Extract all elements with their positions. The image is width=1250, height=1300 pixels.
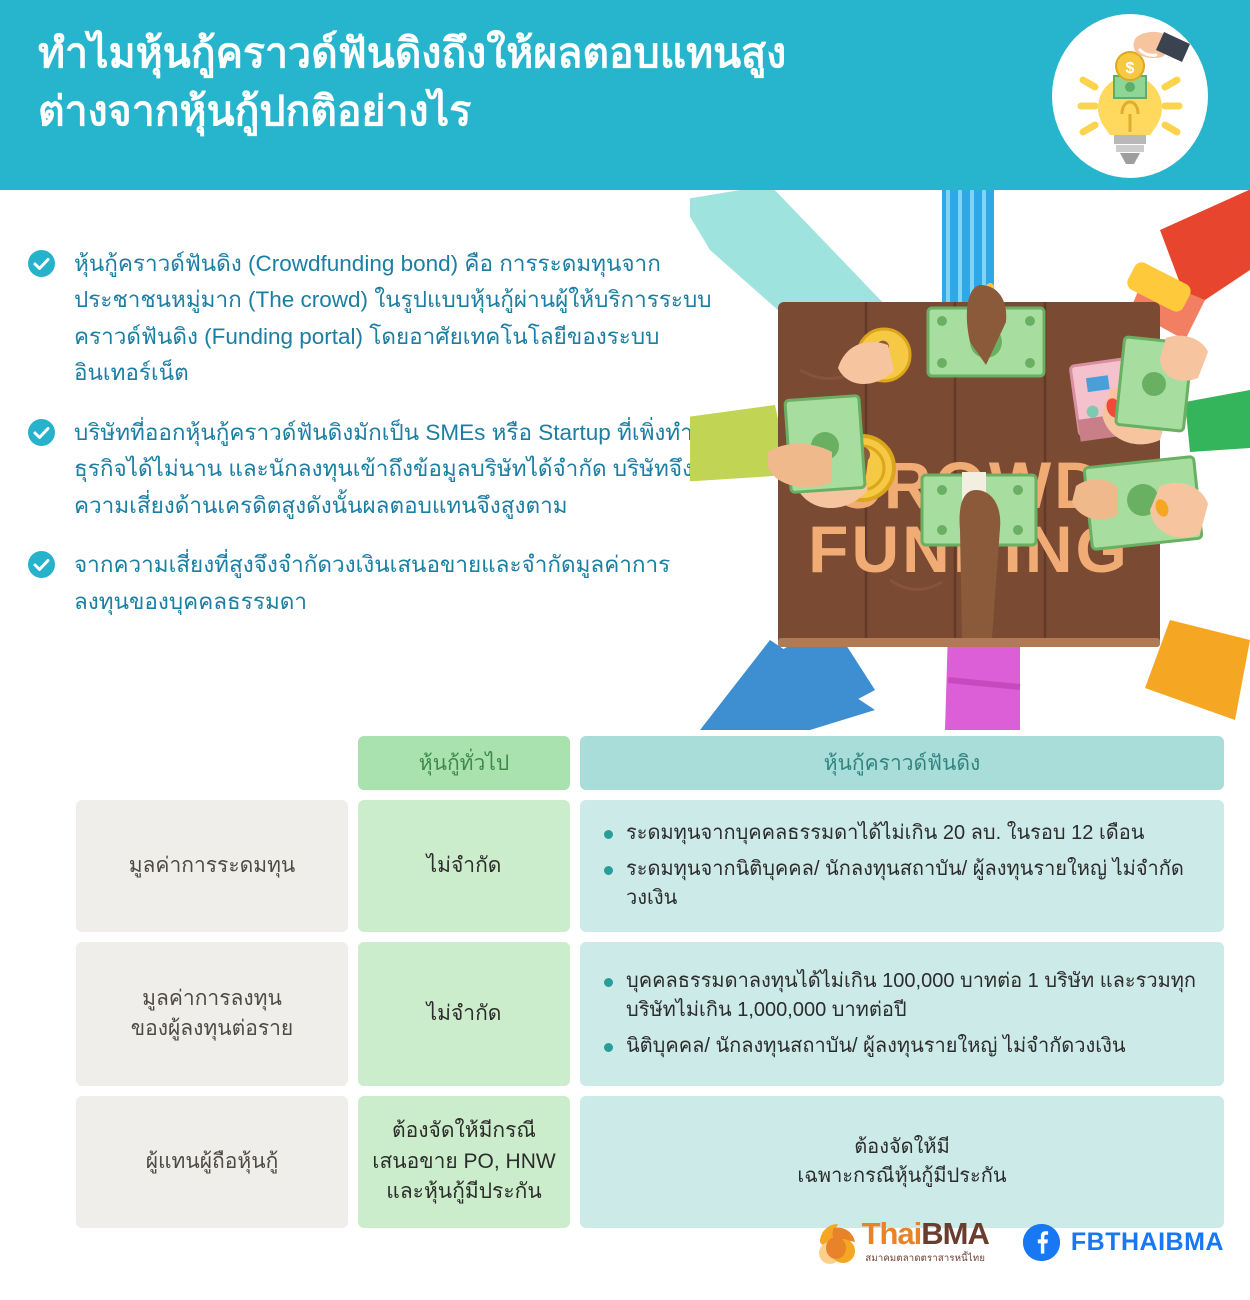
- list-item: บุคคลธรรมดาลงทุนได้ไม่เกิน 100,000 บาทต่…: [604, 967, 1206, 1025]
- footer-logos: ThaiBMA สมาคมตลาดตราสารหนี้ไทย FBTHAIBMA: [814, 1218, 1224, 1266]
- facebook-icon[interactable]: [1023, 1224, 1060, 1261]
- table-header-general: หุ้นกู้ทั่วไป: [358, 736, 570, 790]
- lightbulb-coin-icon: $: [1052, 14, 1208, 178]
- comparison-table: หุ้นกู้ทั่วไป หุ้นกู้คราวด์ฟันดิง มูลค่า…: [76, 736, 1224, 1238]
- row-label-line2: ของผู้ลงทุนต่อราย: [131, 1014, 293, 1044]
- page-title-line2: ต่างจากหุ้นกู้ปกติอย่างไร: [38, 82, 1028, 140]
- list-item: จากความเสี่ยงที่สูงจึงจำกัดวงเงินเสนอขาย…: [28, 547, 718, 620]
- table-header-row: หุ้นกู้ทั่วไป หุ้นกู้คราวด์ฟันดิง: [76, 736, 1224, 790]
- crowd-line1: ต้องจัดให้มี: [797, 1133, 1006, 1162]
- crowdfunding-hands-illustration: CROWD FUNDING: [690, 190, 1250, 730]
- row-crowd-investment-value: บุคคลธรรมดาลงทุนได้ไม่เกิน 100,000 บาทต่…: [580, 942, 1224, 1086]
- row-label-funding-value: มูลค่าการระดมทุน: [76, 800, 348, 932]
- table-row: มูลค่าการระดมทุน ไม่จำกัด ระดมทุนจากบุคค…: [76, 800, 1224, 932]
- header-badge: $: [1052, 14, 1208, 178]
- thaibma-subtitle: สมาคมตลาดตราสารหนี้ไทย: [865, 1251, 985, 1266]
- list-item: บริษัทที่ออกหุ้นกู้คราวด์ฟันดิงมักเป็น S…: [28, 415, 718, 524]
- infographic-page: ทำไมหุ้นกู้คราวด์ฟันดิงถึงให้ผลตอบแทนสูง…: [0, 0, 1250, 1300]
- thaibma-thai: Thai: [862, 1216, 922, 1251]
- general-line1: ต้องจัดให้มีกรณี: [372, 1116, 555, 1146]
- row-general-funding-value: ไม่จำกัด: [358, 800, 570, 932]
- general-line3: และหุ้นกู้มีประกัน: [372, 1177, 555, 1207]
- crowdfunding-illustration-svg: CROWD FUNDING: [690, 190, 1250, 730]
- bullet-text: บริษัทที่ออกหุ้นกู้คราวด์ฟันดิงมักเป็น S…: [74, 415, 718, 524]
- check-circle-icon: [28, 551, 55, 578]
- bullet-text: จากความเสี่ยงที่สูงจึงจำกัดวงเงินเสนอขาย…: [74, 547, 718, 620]
- table-row: ผู้แทนผู้ถือหุ้นกู้ ต้องจัดให้มีกรณี เสน…: [76, 1096, 1224, 1228]
- facebook-label: FBTHAIBMA: [1071, 1228, 1224, 1257]
- thaibma-flower-icon: [814, 1220, 858, 1266]
- facebook-link[interactable]: FBTHAIBMA: [1023, 1224, 1224, 1261]
- list-item: นิติบุคคล/ นักลงทุนสถาบัน/ ผู้ลงทุนรายให…: [604, 1032, 1206, 1061]
- thaibma-name: ThaiBMA: [862, 1218, 989, 1249]
- row-label-investment-value: มูลค่าการลงทุน ของผู้ลงทุนต่อราย: [76, 942, 348, 1086]
- crowd-line2: เฉพาะกรณีหุ้นกู้มีประกัน: [797, 1162, 1006, 1191]
- row-general-bondholder-rep: ต้องจัดให้มีกรณี เสนอขาย PO, HNW และหุ้น…: [358, 1096, 570, 1228]
- header-banner: ทำไมหุ้นกู้คราวด์ฟันดิงถึงให้ผลตอบแทนสูง…: [0, 0, 1250, 190]
- crowd-bullet-list: ระดมทุนจากบุคคลธรรมดาได้ไม่เกิน 20 ลบ. ใ…: [604, 819, 1206, 913]
- check-circle-icon: [28, 419, 55, 446]
- row-general-investment-value: ไม่จำกัด: [358, 942, 570, 1086]
- row-label-bondholder-rep: ผู้แทนผู้ถือหุ้นกู้: [76, 1096, 348, 1228]
- footer: ThaiBMA สมาคมตลาดตราสารหนี้ไทย FBTHAIBMA: [0, 1218, 1250, 1278]
- thaibma-wordmark: ThaiBMA สมาคมตลาดตราสารหนี้ไทย: [862, 1218, 989, 1266]
- page-title: ทำไมหุ้นกู้คราวด์ฟันดิงถึงให้ผลตอบแทนสูง…: [38, 24, 1028, 140]
- table-header-blank: [76, 736, 348, 790]
- bullet-text: หุ้นกู้คราวด์ฟันดิง (Crowdfunding bond) …: [74, 246, 718, 392]
- row-label-line1: มูลค่าการลงทุน: [131, 984, 293, 1014]
- list-item: หุ้นกู้คราวด์ฟันดิง (Crowdfunding bond) …: [28, 246, 718, 392]
- row-crowd-funding-value: ระดมทุนจากบุคคลธรรมดาได้ไม่เกิน 20 ลบ. ใ…: [580, 800, 1224, 932]
- svg-text:$: $: [1126, 60, 1135, 77]
- table-header-crowdfunding: หุ้นกู้คราวด์ฟันดิง: [580, 736, 1224, 790]
- check-circle-icon: [28, 250, 55, 277]
- row-crowd-bondholder-rep: ต้องจัดให้มี เฉพาะกรณีหุ้นกู้มีประกัน: [580, 1096, 1224, 1228]
- general-line2: เสนอขาย PO, HNW: [372, 1147, 555, 1177]
- page-title-line1: ทำไมหุ้นกู้คราวด์ฟันดิงถึงให้ผลตอบแทนสูง: [38, 30, 786, 76]
- bullet-list: หุ้นกู้คราวด์ฟันดิง (Crowdfunding bond) …: [28, 246, 718, 643]
- list-item: ระดมทุนจากนิติบุคคล/ นักลงทุนสถาบัน/ ผู้…: [604, 855, 1206, 913]
- table-row: มูลค่าการลงทุน ของผู้ลงทุนต่อราย ไม่จำกั…: [76, 942, 1224, 1086]
- list-item: ระดมทุนจากบุคคลธรรมดาได้ไม่เกิน 20 ลบ. ใ…: [604, 819, 1206, 848]
- thaibma-bma: BMA: [921, 1216, 989, 1251]
- thaibma-logo: ThaiBMA สมาคมตลาดตราสารหนี้ไทย: [814, 1218, 989, 1266]
- crowd-bullet-list: บุคคลธรรมดาลงทุนได้ไม่เกิน 100,000 บาทต่…: [604, 967, 1206, 1061]
